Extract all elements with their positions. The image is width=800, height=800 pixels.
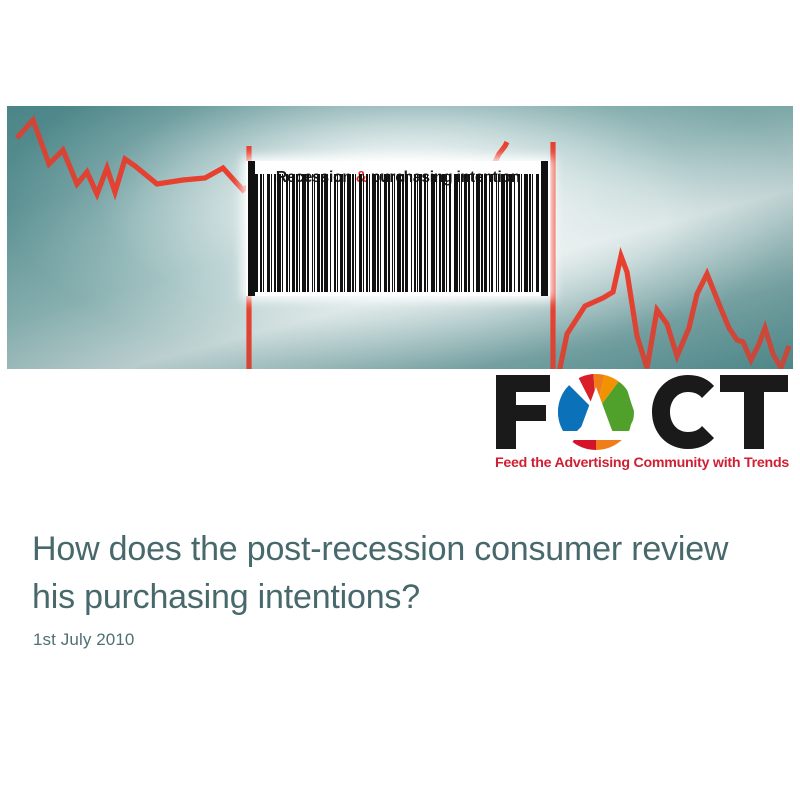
barcode-bar	[363, 174, 364, 292]
barcode-bar	[274, 174, 276, 292]
barcode-bar	[260, 174, 262, 292]
slide-title: How does the post-recession consumer rev…	[32, 525, 762, 621]
barcode-bar	[296, 174, 298, 292]
barcode-bar	[392, 174, 393, 292]
barcode-bar	[489, 174, 490, 292]
barcode-bar	[481, 174, 483, 292]
barcode-bar	[411, 174, 412, 292]
barcode-bar	[340, 174, 343, 292]
barcode-bar	[286, 174, 288, 292]
barcode-bar	[498, 174, 499, 292]
barcode-bar	[524, 174, 528, 292]
barcode-bar	[317, 174, 320, 292]
barcode-bar	[352, 174, 354, 292]
barcode-bar	[468, 174, 470, 292]
barcode-bar	[369, 174, 370, 292]
barcode-bar	[359, 174, 362, 292]
barcode-bar	[377, 174, 379, 292]
barcode-bar	[514, 174, 515, 292]
barcode-bars	[254, 174, 542, 292]
barcode-bar	[461, 174, 462, 292]
barcode-bar	[414, 174, 416, 292]
barcode-bar	[417, 174, 418, 292]
barcode-bar	[501, 174, 505, 292]
barcode-bar	[484, 174, 487, 292]
barcode-bar	[380, 174, 381, 292]
barcode-bar	[491, 174, 493, 292]
barcode-bar	[254, 174, 258, 292]
barcode-bar	[337, 174, 338, 292]
barcode-bar	[509, 174, 512, 292]
barcode-bar	[464, 174, 467, 292]
barcode-bar	[521, 174, 522, 292]
barcode-bar	[277, 174, 281, 292]
logo-letter-f	[496, 375, 550, 449]
barcode-bar	[446, 174, 447, 292]
barcode-bar	[436, 174, 437, 292]
slide-date: 1st July 2010	[33, 630, 134, 650]
barcode-bar	[454, 174, 458, 292]
barcode-bar	[439, 174, 441, 292]
barcode-bar	[344, 174, 345, 292]
barcode-bar	[529, 174, 531, 292]
barcode-bar	[366, 174, 368, 292]
barcode-bar	[424, 174, 426, 292]
barcode-bar	[307, 174, 309, 292]
barcode-bar	[431, 174, 435, 292]
barcode-bar	[419, 174, 422, 292]
barcode-bar	[459, 174, 460, 292]
barcode-bar	[536, 174, 539, 292]
barcode-bar	[267, 174, 270, 292]
logo-letter-t	[720, 375, 788, 449]
barcode-bar	[289, 174, 290, 292]
barcode-bar	[518, 174, 520, 292]
barcode-bar	[397, 174, 401, 292]
logo-letter-a-pie	[556, 371, 636, 453]
barcode-bar	[442, 174, 445, 292]
barcode-bar	[302, 174, 306, 292]
barcode-bar	[496, 174, 497, 292]
barcode-bar	[312, 174, 313, 292]
barcode-bar	[314, 174, 315, 292]
barcode-bar	[292, 174, 295, 292]
barcode-bar	[473, 174, 474, 292]
barcode-bar	[299, 174, 300, 292]
barcode-bar	[394, 174, 395, 292]
barcode-bar	[427, 174, 428, 292]
barcode-bar	[506, 174, 508, 292]
barcode-bar	[388, 174, 390, 292]
title-slide: Recession & purchasing intention	[0, 0, 800, 800]
barcode-bar	[532, 174, 533, 292]
barcode-bar	[263, 174, 264, 292]
fact-wordmark	[492, 371, 792, 453]
barcode-bar	[271, 174, 272, 292]
barcode-bar	[324, 174, 328, 292]
barcode-bar	[449, 174, 451, 292]
barcode-bar	[405, 174, 408, 292]
barcode-bar	[347, 174, 351, 292]
logo-letter-c	[652, 375, 714, 449]
fact-logo-tagline: Feed the Advertising Community with Tren…	[492, 455, 792, 471]
barcode-bar	[476, 174, 480, 292]
fact-logo: Feed the Advertising Community with Tren…	[492, 371, 792, 481]
barcode-bar	[372, 174, 376, 292]
barcode-graphic: Recession & purchasing intention	[246, 161, 550, 296]
barcode-bar	[384, 174, 387, 292]
barcode-bar	[282, 174, 283, 292]
barcode-bar	[402, 174, 404, 292]
barcode-bar	[330, 174, 331, 292]
barcode-bar	[355, 174, 356, 292]
barcode-bar	[334, 174, 336, 292]
barcode-bar	[321, 174, 323, 292]
